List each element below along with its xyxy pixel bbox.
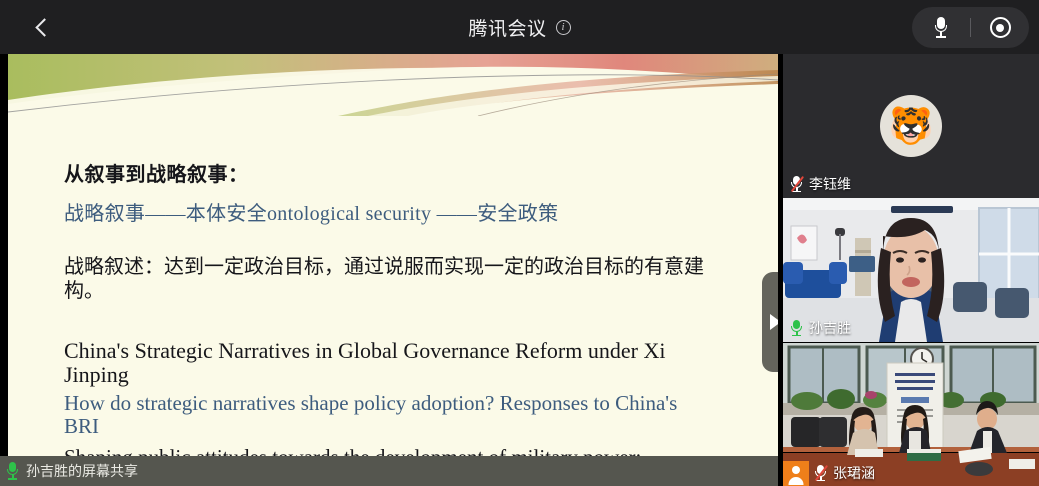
tencent-meeting-window: 腾讯会议 i xyxy=(0,0,1039,486)
slide-line-2: 战略叙事——本体安全ontological security ——安全政策 xyxy=(64,197,704,226)
next-slide-button[interactable] xyxy=(762,272,778,372)
participant-name: 张珺涵 xyxy=(833,463,875,483)
slide-line-5: How do strategic narratives shape policy… xyxy=(64,392,704,438)
participant-tile[interactable]: 🐯 李钰维 xyxy=(783,54,1039,198)
slide-line-3: 战略叙述：达到一定政治目标，通过说服而实现一定的政治目标的有意建构。 xyxy=(64,256,704,303)
participant-tile[interactable]: 孙吉胜 xyxy=(783,198,1039,342)
share-status-text: 孙吉胜的屏幕共享 xyxy=(26,461,138,481)
top-bar: 腾讯会议 i xyxy=(0,0,1039,54)
slide-line-4: China's Strategic Narratives in Global G… xyxy=(64,339,704,387)
share-status-bar: 孙吉胜的屏幕共享 xyxy=(0,456,778,486)
title-area: 腾讯会议 i xyxy=(0,0,1039,54)
participant-name: 孙吉胜 xyxy=(809,318,851,338)
participant-name: 李钰维 xyxy=(809,174,851,194)
slide-line-1: 从叙事到战略叙事： xyxy=(64,158,704,187)
slide-text-body: 从叙事到战略叙事： 战略叙事——本体安全ontological security… xyxy=(64,158,704,456)
microphone-muted-icon xyxy=(813,464,828,482)
participant-name-row: 李钰维 xyxy=(783,174,851,194)
tiger-avatar-icon: 🐯 xyxy=(880,95,942,157)
microphone-active-icon xyxy=(789,319,804,337)
slide-decorative-banner xyxy=(8,54,778,116)
meeting-controls xyxy=(912,7,1029,48)
slide-line-6: Shaping public attitudes towards the dev… xyxy=(64,446,704,456)
microphone-button[interactable] xyxy=(912,7,970,48)
camera-record-icon xyxy=(990,17,1011,38)
chevron-right-icon xyxy=(770,314,778,330)
presentation-slide[interactable]: 从叙事到战略叙事： 战略叙事——本体安全ontological security… xyxy=(8,54,778,456)
participant-name-row: 张珺涵 xyxy=(783,463,875,483)
camera-button[interactable] xyxy=(971,7,1029,48)
page-title: 腾讯会议 xyxy=(468,14,546,41)
info-icon[interactable]: i xyxy=(556,20,571,35)
participant-rail: 🐯 李钰维 xyxy=(778,54,1039,486)
microphone-active-icon xyxy=(6,462,19,480)
participant-tile[interactable]: 张珺涵 xyxy=(783,343,1039,486)
microphone-icon xyxy=(935,17,947,38)
participant-name-row: 孙吉胜 xyxy=(783,318,851,338)
microphone-muted-icon xyxy=(789,175,804,193)
shared-screen-area: 从叙事到战略叙事： 战略叙事——本体安全ontological security… xyxy=(0,54,778,486)
